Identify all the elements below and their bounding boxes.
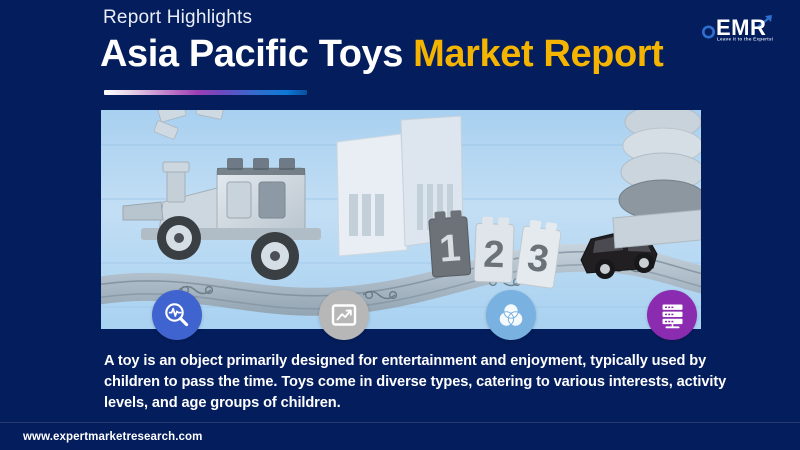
magnifier-pulse-glyph [163,301,191,329]
footer-divider [0,422,800,423]
svg-text:2: 2 [483,234,506,277]
svg-text:1: 1 [438,227,462,270]
picture-chart-glyph [331,302,357,328]
data-server-icon[interactable] [647,290,697,340]
footer-website-url[interactable]: www.expertmarketresearch.com [23,429,202,445]
server-rack-glyph [659,302,686,329]
page-title-primary: Asia Pacific Toys [100,33,413,75]
venn-diagram-glyph [497,301,525,329]
chart-image-icon[interactable] [319,290,369,340]
svg-text:Leave it to the Experts!: Leave it to the Experts! [717,37,774,42]
market-research-icon[interactable] [152,290,202,340]
eyebrow-label: Report Highlights [103,6,252,30]
report-highlight-slide: Report Highlights Asia Pacific Toys Mark… [0,0,800,450]
summary-paragraph: A toy is an object primarily designed fo… [104,351,764,414]
page-title: Asia Pacific Toys Market Report [100,31,663,77]
segmentation-icon[interactable] [486,290,536,340]
emr-logo-graphic: EMR Leave it to the Experts! [700,7,782,43]
emr-logo[interactable]: EMR Leave it to the Experts! [700,7,782,43]
accent-bar [104,90,307,95]
page-title-accent: Market Report [413,33,663,75]
